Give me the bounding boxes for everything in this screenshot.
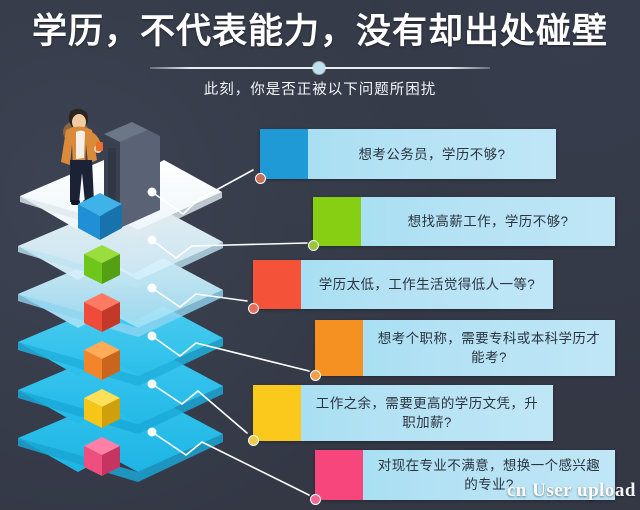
card-accent-bar [313, 197, 361, 246]
card-label: 工作之余，需要更高的学历文凭，升职加薪? [312, 394, 542, 432]
card-accent-bar [315, 450, 363, 500]
card-body: 想考公务员，学历不够? [308, 129, 556, 179]
card-label: 想找高薪工作，学历不够? [408, 212, 569, 231]
card-connector-dot [248, 435, 259, 446]
card-connector-dot [255, 173, 266, 184]
card-label: 想考个职称，需要专科或本科学历才能考? [374, 329, 604, 367]
card-label: 想考公务员，学历不够? [359, 145, 506, 164]
header: 学历，不代表能力，没有却出处碰壁 此刻，你是否正被以下问题所困扰 [0, 0, 640, 108]
card-body: 想找高薪工作，学历不够? [361, 197, 615, 246]
card-connector-dot [308, 240, 319, 251]
title-divider [150, 60, 490, 76]
watermark-text: cn User upload [507, 480, 636, 502]
problem-card[interactable]: 工作之余，需要更高的学历文凭，升职加薪? [253, 385, 553, 441]
card-body: 想考个职称，需要专科或本科学历才能考? [363, 320, 615, 376]
illustration-svg [8, 100, 238, 510]
problem-card[interactable]: 学历太低，工作生活觉得低人一等? [253, 260, 553, 309]
page-subtitle: 此刻，你是否正被以下问题所困扰 [0, 78, 640, 99]
card-connector-dot [248, 303, 259, 314]
page-title: 学历，不代表能力，没有却出处碰壁 [0, 8, 640, 56]
card-body: 学历太低，工作生活觉得低人一等? [301, 260, 553, 309]
card-accent-bar [253, 260, 301, 309]
card-body: 工作之余，需要更高的学历文凭，升职加薪? [301, 385, 553, 441]
problem-card[interactable]: 想找高薪工作，学历不够? [313, 197, 615, 246]
isometric-layered-platform-illustration [8, 100, 238, 510]
problem-card[interactable]: 想考个职称，需要专科或本科学历才能考? [315, 320, 615, 376]
infographic-canvas: 学历，不代表能力，没有却出处碰壁 此刻，你是否正被以下问题所困扰 [0, 0, 640, 510]
problem-card[interactable]: 想考公务员，学历不够? [260, 129, 556, 179]
divider-dot-icon [313, 62, 325, 74]
card-connector-dot [310, 370, 321, 381]
card-accent-bar [253, 385, 301, 441]
card-connector-dot [310, 494, 321, 505]
card-accent-bar [260, 129, 308, 179]
card-accent-bar [315, 320, 363, 376]
card-label: 学历太低，工作生活觉得低人一等? [319, 275, 535, 294]
